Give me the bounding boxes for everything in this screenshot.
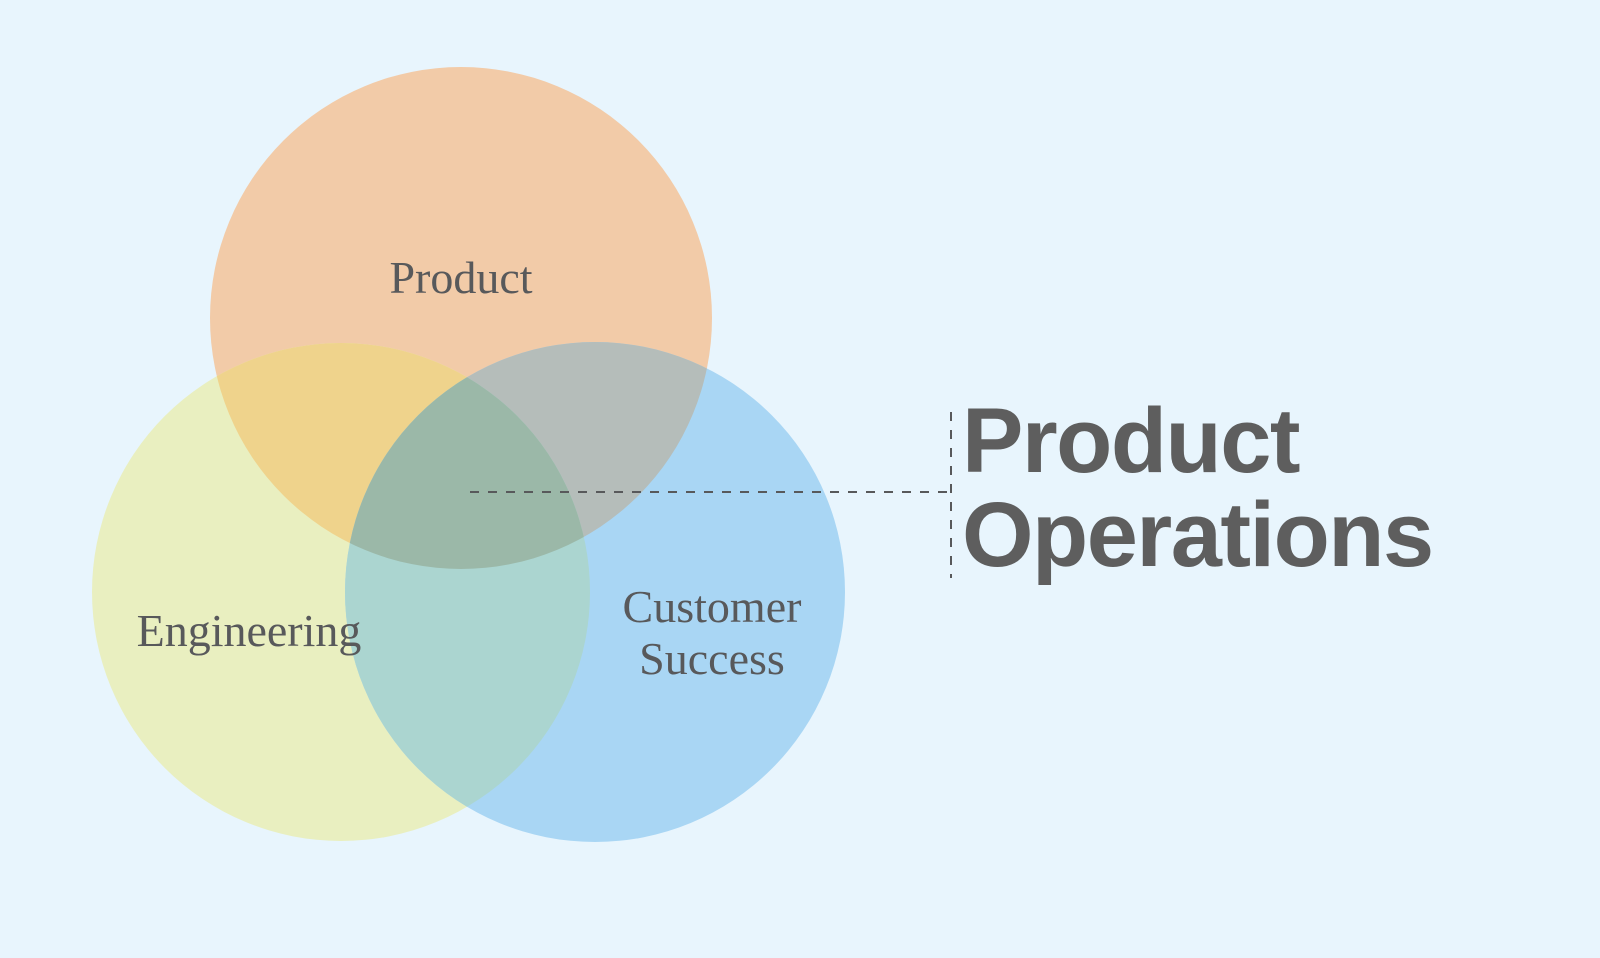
venn-diagram-svg: Product Engineering Customer Success Pro… [0,0,1600,958]
circle-label-engineering: Engineering [137,605,362,656]
circle-label-product: Product [389,252,532,303]
circle-label-customer-success-line1: Customer [623,581,802,632]
circle-label-customer-success-line2: Success [639,633,785,684]
callout-title-line2: Operations [962,484,1433,586]
callout-title-line1: Product [962,390,1300,492]
diagram-canvas: Product Engineering Customer Success Pro… [0,0,1600,958]
